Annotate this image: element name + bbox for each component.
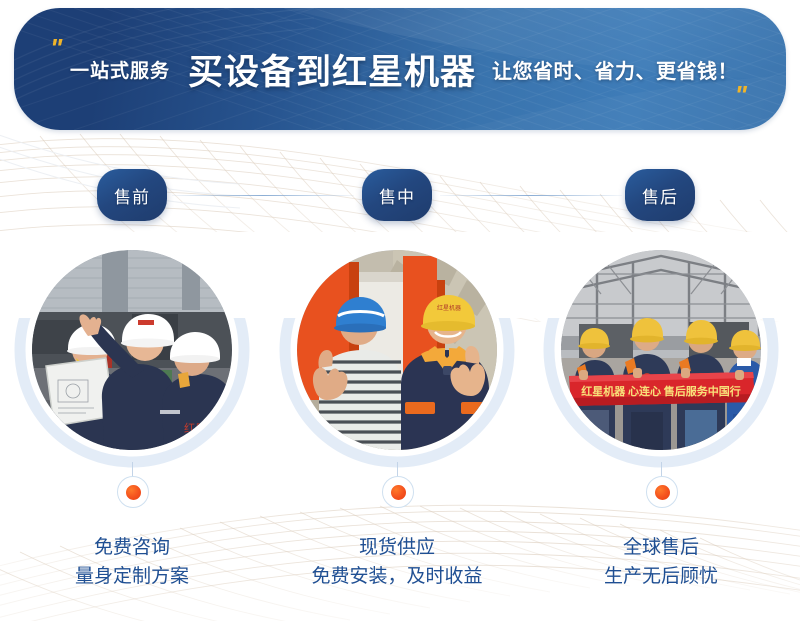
- photo-after-sales-illustration: 红星机器 心连心 售后服务中国行: [561, 250, 761, 450]
- svg-text:红星机器: 红星机器: [437, 304, 461, 312]
- step-badge-pre-sales[interactable]: 售前: [97, 169, 167, 221]
- photo-in-sales-illustration: 红星机器: [297, 250, 497, 450]
- step-badge-label: 售后: [642, 183, 678, 208]
- orange-dot-icon: [391, 485, 406, 500]
- photo-pre-sales: 红星: [32, 250, 232, 450]
- caption-pre-sales: 免费咨询 量身定制方案: [0, 533, 265, 592]
- marker-dot-2: [382, 476, 414, 508]
- banner-content: 一站式服务 买设备到红星机器 让您省时、省力、更省钱！: [14, 8, 786, 130]
- step-indicator-row: 售前 售中 售后: [0, 168, 800, 224]
- step-badge-in-sales[interactable]: 售中: [362, 169, 432, 221]
- caption-line-2: 免费安装，及时收益: [264, 562, 530, 591]
- banner-tagline-small: 一站式服务: [70, 56, 170, 83]
- marker-dot-1: [117, 476, 149, 508]
- step-connector-line-2: [440, 195, 622, 196]
- caption-line-1: 免费咨询: [0, 533, 265, 562]
- promo-banner-page: " " 一站式服务 买设备到红星机器 让您省时、省力、更省钱！ 售前 售中 售后: [0, 0, 800, 621]
- caption-line-1: 现货供应: [264, 533, 530, 562]
- banner-title: 买设备到红星机器: [188, 44, 476, 95]
- step-badge-label: 售中: [379, 183, 415, 208]
- caption-in-sales: 现货供应 免费安装，及时收益: [264, 533, 530, 592]
- caption-line-1: 全球售后: [528, 533, 794, 562]
- marker-dot-3: [646, 476, 678, 508]
- caption-after-sales: 全球售后 生产无后顾忧: [528, 533, 794, 592]
- step-badge-after-sales[interactable]: 售后: [625, 169, 695, 221]
- banner-tagline-sub: 让您省时、省力、更省钱！: [492, 55, 738, 84]
- svg-text:红星机器 心连心 售后服务中国行: 红星机器 心连心 售后服务中国行: [581, 384, 741, 398]
- header-banner: " " 一站式服务 买设备到红星机器 让您省时、省力、更省钱！: [14, 8, 786, 130]
- step-connector-line-1: [172, 195, 354, 196]
- photo-pre-sales-illustration: 红星: [32, 250, 232, 450]
- orange-dot-icon: [126, 485, 141, 500]
- orange-dot-icon: [655, 485, 670, 500]
- caption-line-2: 生产无后顾忧: [528, 562, 794, 591]
- photo-in-sales: 红星机器: [297, 250, 497, 450]
- caption-line-2: 量身定制方案: [0, 562, 265, 591]
- photo-after-sales: 红星机器 心连心 售后服务中国行: [561, 250, 761, 450]
- step-badge-label: 售前: [114, 183, 150, 208]
